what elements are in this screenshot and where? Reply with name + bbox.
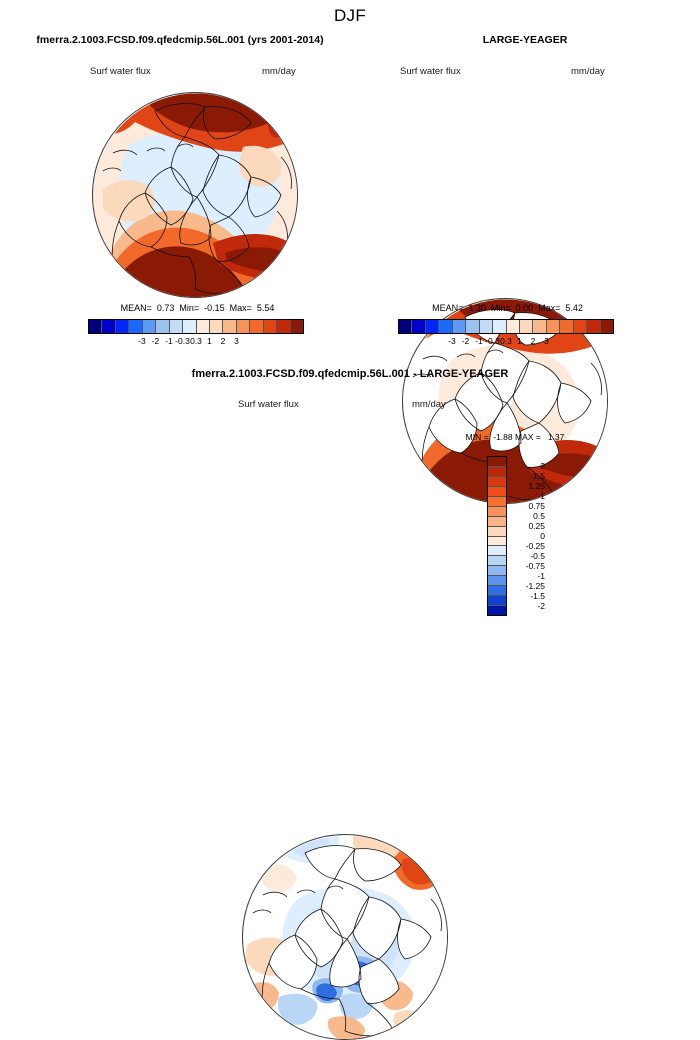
colorbar-cell-1 bbox=[102, 320, 115, 333]
colorbar-tick-1: -2 bbox=[152, 336, 160, 346]
colorbar-tick-7: 3 bbox=[544, 336, 549, 346]
diff-colorbar-cell-12 bbox=[488, 576, 506, 586]
right-units-label: mm/day bbox=[571, 66, 605, 77]
colorbar-cell-5 bbox=[466, 320, 479, 333]
diff-colorbar-cell-7 bbox=[488, 527, 506, 537]
left-model-map[interactable] bbox=[92, 92, 298, 298]
colorbar-tick-0: -3 bbox=[448, 336, 456, 346]
right-variable-label: Surf water flux bbox=[400, 66, 461, 77]
left-panel-title: fmerra.2.1003.FCSD.f09.qfedcmip.56L.001 … bbox=[10, 34, 350, 46]
colorbar-tick-7: 3 bbox=[234, 336, 239, 346]
left-colorbar-labels: -3-2-1-0.30.3123 bbox=[88, 336, 304, 350]
diff-colorbar-cell-13 bbox=[488, 586, 506, 596]
left-stats: MEAN= 0.73 Min= -0.15 Max= 5.54 bbox=[85, 303, 310, 313]
diff-colorbar-tick-7: 0 bbox=[540, 531, 545, 541]
diff-panel-title: fmerra.2.1003.FCSD.f09.qfedcmip.56L.001 … bbox=[100, 368, 600, 380]
diff-stats: MIN = -1.88 MAX = 1.37 bbox=[440, 432, 590, 442]
colorbar-cell-0 bbox=[399, 320, 412, 333]
left-variable-label: Surf water flux bbox=[90, 66, 151, 77]
colorbar-tick-3: -0.3 bbox=[175, 336, 190, 346]
colorbar-tick-6: 2 bbox=[221, 336, 226, 346]
diff-colorbar-cell-14 bbox=[488, 596, 506, 606]
diff-colorbar-cells bbox=[487, 456, 507, 616]
diff-colorbar-tick-8: -0.25 bbox=[526, 541, 545, 551]
diff-colorbar-cell-1 bbox=[488, 467, 506, 477]
diff-colorbar-tick-13: -1.5 bbox=[530, 591, 545, 601]
right-colorbar-labels: -3-2-1-0.30.3123 bbox=[398, 336, 614, 350]
colorbar-tick-5: 1 bbox=[517, 336, 522, 346]
colorbar-tick-4: 0.3 bbox=[500, 336, 512, 346]
colorbar-tick-6: 2 bbox=[531, 336, 536, 346]
colorbar-cell-11 bbox=[237, 320, 250, 333]
colorbar-cell-10 bbox=[533, 320, 546, 333]
colorbar-cell-10 bbox=[223, 320, 236, 333]
colorbar-cell-3 bbox=[129, 320, 142, 333]
colorbar-tick-5: 1 bbox=[207, 336, 212, 346]
colorbar-tick-0: -3 bbox=[138, 336, 146, 346]
colorbar-cell-9 bbox=[210, 320, 223, 333]
colorbar-cell-8 bbox=[507, 320, 520, 333]
left-map-field bbox=[93, 93, 298, 298]
colorbar-tick-2: -1 bbox=[475, 336, 483, 346]
right-colorbar-cells bbox=[398, 319, 614, 334]
diff-colorbar-cell-10 bbox=[488, 556, 506, 566]
colorbar-cell-8 bbox=[197, 320, 210, 333]
colorbar-cell-6 bbox=[170, 320, 183, 333]
colorbar-cell-5 bbox=[156, 320, 169, 333]
diff-colorbar-tick-12: -1.25 bbox=[526, 581, 545, 591]
colorbar-cell-7 bbox=[183, 320, 196, 333]
difference-map[interactable] bbox=[242, 834, 448, 1040]
diff-colorbar-tick-6: 0.25 bbox=[528, 521, 545, 531]
colorbar-cell-14 bbox=[587, 320, 600, 333]
colorbar-cell-7 bbox=[493, 320, 506, 333]
right-colorbar[interactable]: -3-2-1-0.30.3123 bbox=[398, 319, 614, 351]
diff-colorbar-cell-15 bbox=[488, 606, 506, 615]
diff-colorbar-tick-9: -0.5 bbox=[530, 551, 545, 561]
colorbar-cell-15 bbox=[601, 320, 613, 333]
colorbar-cell-9 bbox=[520, 320, 533, 333]
diff-colorbar-tick-0: 2 bbox=[540, 461, 545, 471]
diff-colorbar-cell-5 bbox=[488, 507, 506, 517]
diff-colorbar[interactable]: 21.51.2510.750.50.250-0.25-0.5-0.75-1-1.… bbox=[487, 456, 547, 616]
diff-colorbar-tick-3: 1 bbox=[540, 491, 545, 501]
page-title: DJF bbox=[0, 6, 700, 26]
right-stats: MEAN= 1.30 Min= 0.00 Max= 5.42 bbox=[395, 303, 620, 313]
colorbar-tick-1: -2 bbox=[462, 336, 470, 346]
diff-colorbar-cell-9 bbox=[488, 546, 506, 556]
colorbar-cell-14 bbox=[277, 320, 290, 333]
colorbar-cell-4 bbox=[143, 320, 156, 333]
diff-colorbar-tick-14: -2 bbox=[537, 601, 545, 611]
colorbar-cell-2 bbox=[426, 320, 439, 333]
diff-colorbar-cell-2 bbox=[488, 477, 506, 487]
diff-colorbar-cell-0 bbox=[488, 457, 506, 467]
colorbar-cell-1 bbox=[412, 320, 425, 333]
left-map-canvas bbox=[93, 93, 298, 298]
diff-colorbar-cell-3 bbox=[488, 487, 506, 497]
colorbar-cell-13 bbox=[264, 320, 277, 333]
colorbar-cell-6 bbox=[480, 320, 493, 333]
diff-units-label: mm/day bbox=[412, 399, 446, 410]
diff-variable-label: Surf water flux bbox=[238, 399, 299, 410]
diff-colorbar-tick-10: -0.75 bbox=[526, 561, 545, 571]
colorbar-cell-12 bbox=[560, 320, 573, 333]
colorbar-cell-2 bbox=[116, 320, 129, 333]
colorbar-cell-3 bbox=[439, 320, 452, 333]
colorbar-tick-4: 0.3 bbox=[190, 336, 202, 346]
colorbar-cell-15 bbox=[291, 320, 303, 333]
colorbar-cell-4 bbox=[453, 320, 466, 333]
right-panel-title: LARGE-YEAGER bbox=[360, 34, 690, 46]
diff-map-field bbox=[243, 835, 448, 1040]
colorbar-cell-11 bbox=[547, 320, 560, 333]
colorbar-tick-3: -0.3 bbox=[485, 336, 500, 346]
left-colorbar[interactable]: -3-2-1-0.30.3123 bbox=[88, 319, 304, 351]
diff-colorbar-cell-6 bbox=[488, 517, 506, 527]
colorbar-cell-0 bbox=[89, 320, 102, 333]
diff-colorbar-tick-1: 1.5 bbox=[533, 471, 545, 481]
diff-colorbar-tick-11: -1 bbox=[537, 571, 545, 581]
colorbar-cell-13 bbox=[574, 320, 587, 333]
diff-colorbar-labels: 21.51.2510.750.50.250-0.25-0.5-0.75-1-1.… bbox=[511, 456, 545, 616]
diff-colorbar-tick-5: 0.5 bbox=[533, 511, 545, 521]
diff-map-canvas bbox=[243, 835, 448, 1040]
diff-colorbar-tick-4: 0.75 bbox=[528, 501, 545, 511]
colorbar-cell-12 bbox=[250, 320, 263, 333]
left-units-label: mm/day bbox=[262, 66, 296, 77]
colorbar-tick-2: -1 bbox=[165, 336, 173, 346]
left-colorbar-cells bbox=[88, 319, 304, 334]
diff-colorbar-cell-8 bbox=[488, 537, 506, 547]
diff-colorbar-cell-4 bbox=[488, 497, 506, 507]
diff-colorbar-tick-2: 1.25 bbox=[528, 481, 545, 491]
diff-colorbar-cell-11 bbox=[488, 566, 506, 576]
